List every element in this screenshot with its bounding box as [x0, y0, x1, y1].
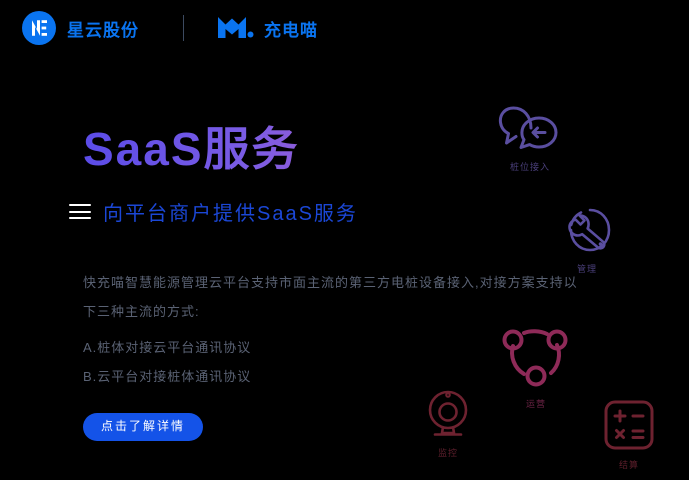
learn-more-button[interactable]: 点击了解详情 — [83, 413, 203, 441]
feature-monitor-label: 监控 — [438, 446, 458, 459]
hero-list: A.桩体对接云平台通讯协议 B.云平台对接桩体通讯协议 — [83, 333, 583, 391]
hero-list-item-a: A.桩体对接云平台通讯协议 — [83, 333, 583, 362]
brand-primary-name: 星云股份 — [67, 16, 139, 41]
hero-section: SaaS服务 向平台商户提供SaaS服务 快充喵智慧能源管理云平台支持市面主流的… — [83, 125, 603, 441]
brand-secondary[interactable]: 充电喵 — [216, 15, 318, 41]
page-header: 星云股份 充电喵 — [0, 0, 689, 56]
page-stage: 星云股份 充电喵 SaaS服务 向平台商户提供SaaS服务 快充喵智慧能源管理云… — [0, 0, 689, 480]
hero-subtitle: 向平台商户提供SaaS服务 — [103, 197, 358, 226]
feature-settle-label: 结算 — [619, 458, 639, 471]
header-divider — [183, 15, 184, 41]
cat-ear-logo-icon — [216, 15, 256, 41]
hero-body: 快充喵智慧能源管理云平台支持市面主流的第三方电桩设备接入,对接方案支持以下三种主… — [83, 268, 583, 391]
hero-subtitle-row: 向平台商户提供SaaS服务 — [83, 197, 603, 226]
hamburger-menu-icon[interactable] — [69, 204, 91, 219]
brand-primary[interactable]: 星云股份 — [22, 11, 139, 45]
ne-circle-logo-icon — [22, 11, 56, 45]
hero-list-item-b: B.云平台对接桩体通讯协议 — [83, 362, 583, 391]
calculator-icon — [600, 398, 658, 452]
feature-settle[interactable]: 结算 — [600, 398, 658, 471]
hero-body-paragraph: 快充喵智慧能源管理云平台支持市面主流的第三方电桩设备接入,对接方案支持以下三种主… — [83, 268, 583, 326]
page-title: SaaS服务 — [83, 125, 603, 173]
brand-secondary-name: 充电喵 — [264, 16, 318, 41]
